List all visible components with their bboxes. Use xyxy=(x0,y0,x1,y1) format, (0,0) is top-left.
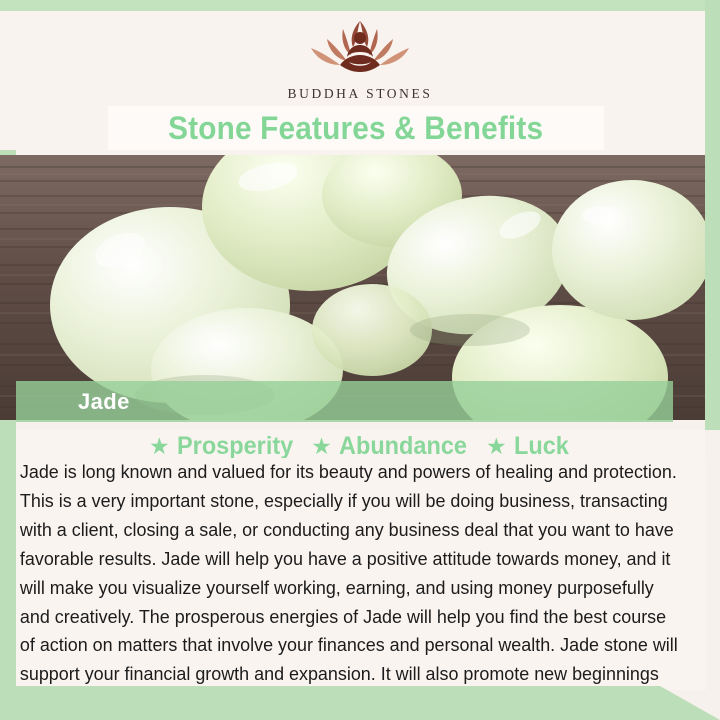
keyword-label: Prosperity xyxy=(177,432,293,461)
star-icon: ★ xyxy=(311,435,332,458)
keyword-item-prosperity: ★ Prosperity xyxy=(149,432,300,461)
keyword-item-luck: ★ Luck xyxy=(486,432,572,461)
description-block: Jade is long known and valued for its be… xyxy=(16,458,706,690)
star-icon: ★ xyxy=(149,435,170,458)
keyword-label: Abundance xyxy=(339,432,467,461)
brand-name: BUDDHA STONES xyxy=(0,86,720,102)
star-icon: ★ xyxy=(486,435,507,458)
keyword-label: Luck xyxy=(514,432,569,461)
bottom-green-border xyxy=(0,686,720,720)
stone-name-band: Jade xyxy=(16,381,673,422)
description-text: Jade is long known and valued for its be… xyxy=(16,458,689,718)
brand-logo: BUDDHA STONES xyxy=(0,14,720,102)
keyword-item-abundance: ★ Abundance xyxy=(311,432,475,461)
product-info-card: BUDDHA STONES Stone Features & Benefits xyxy=(0,0,720,720)
top-green-border xyxy=(0,0,720,11)
stone-name-label: Jade xyxy=(78,389,130,415)
lotus-meditation-icon xyxy=(299,14,421,80)
title-banner: Stone Features & Benefits xyxy=(108,106,604,150)
page-title: Stone Features & Benefits xyxy=(168,110,543,147)
